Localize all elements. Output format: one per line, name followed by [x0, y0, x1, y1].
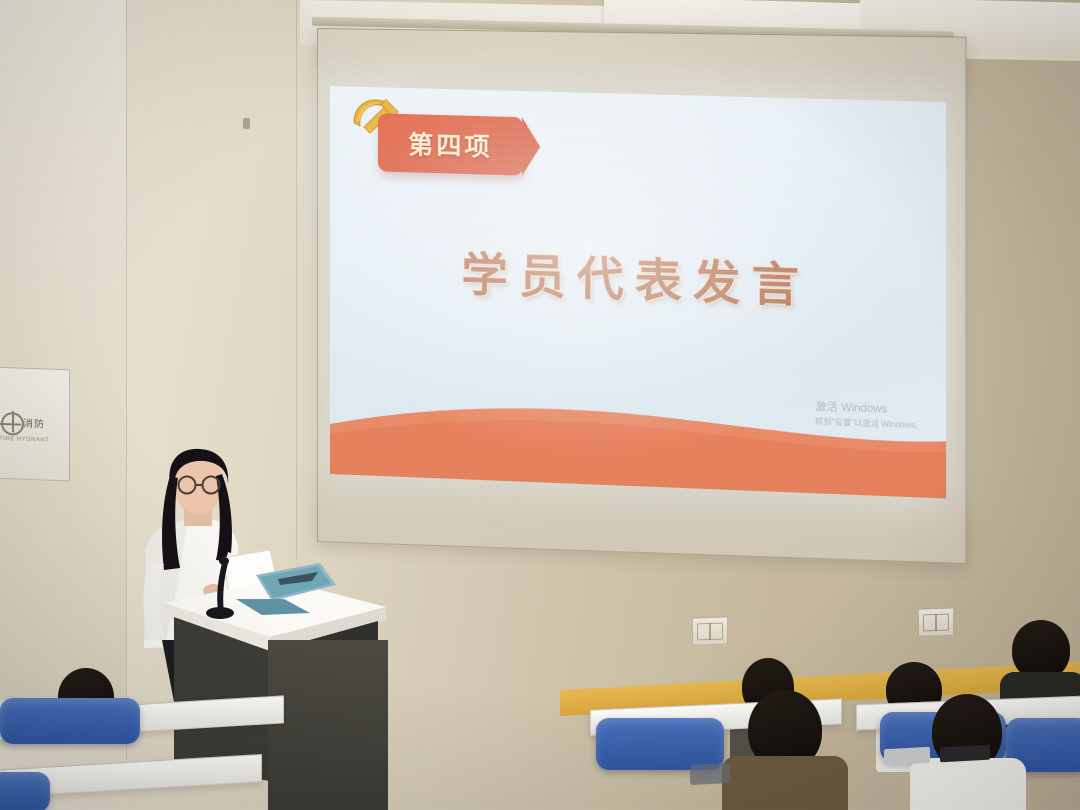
- left-wall-panel: [0, 0, 126, 700]
- section-badge: 第四项: [378, 113, 523, 175]
- section-badge-label: 第四项: [378, 113, 523, 175]
- fire-hydrant-icon: [1, 412, 24, 436]
- chair[interactable]: [596, 718, 724, 770]
- sign-label-cn: 消防: [23, 415, 45, 431]
- slide-title: 学员代表发言: [330, 234, 946, 321]
- chair[interactable]: [0, 698, 140, 744]
- projected-slide: 第四项 学员代表发言 激活 Windows 转到"设置"以激活 Windows。: [330, 86, 946, 499]
- sign-label-en: FIRE HYDRANT: [0, 436, 49, 444]
- tablet-device[interactable]: [884, 747, 930, 765]
- wall-socket-left: [692, 616, 728, 645]
- tablet-device[interactable]: [940, 745, 990, 763]
- wall-socket-right: [918, 607, 954, 636]
- wall-hook: [243, 118, 250, 129]
- fire-hydrant-sign: 消防 FIRE HYDRANT: [0, 367, 70, 482]
- classroom-photo: 消防 FIRE HYDRANT 第四项 学员代表发言 激活 Windows 转到…: [0, 0, 1080, 810]
- side-panel: [268, 640, 388, 810]
- desk-item: [690, 763, 730, 785]
- chair[interactable]: [0, 772, 50, 810]
